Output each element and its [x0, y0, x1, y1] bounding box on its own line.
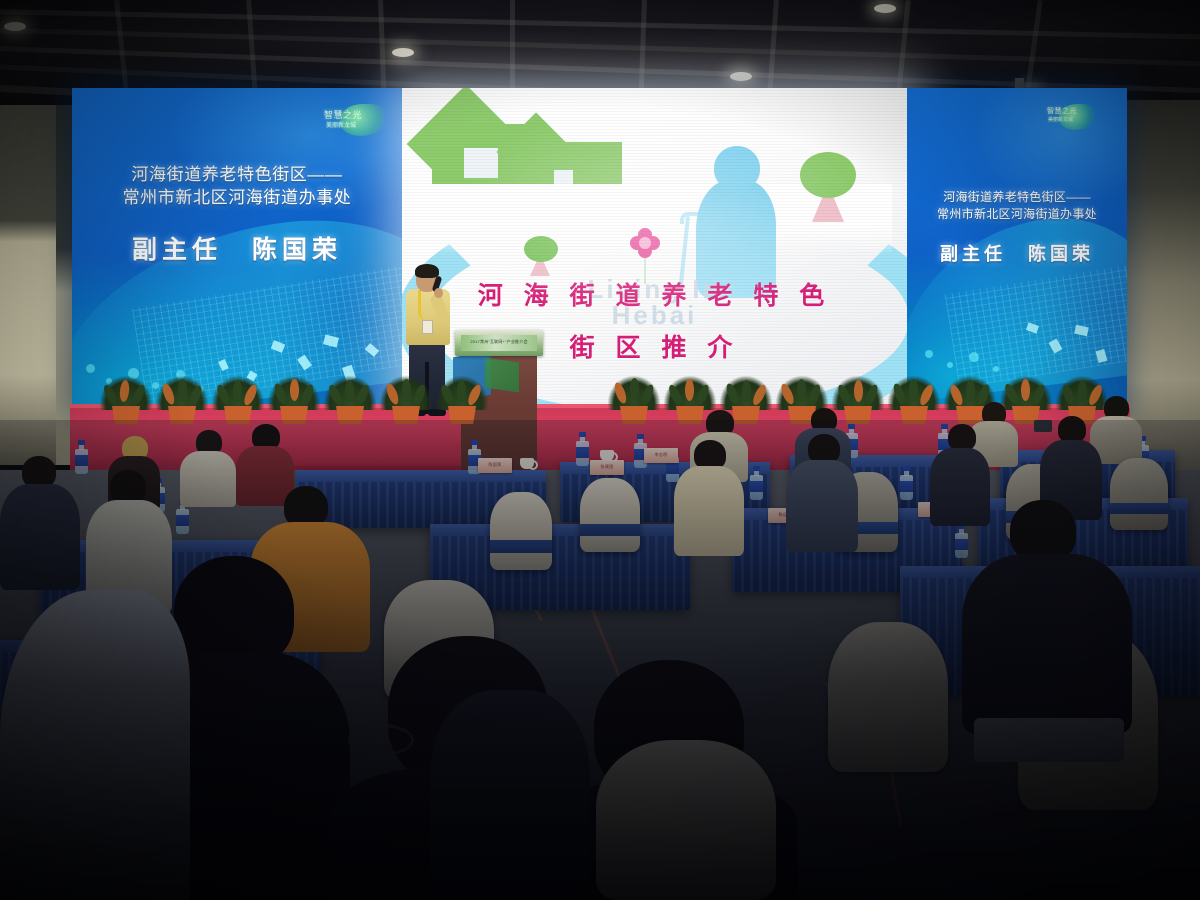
logo-sub-text: 美丽新龙城: [1048, 116, 1073, 123]
eyeglasses-icon: [348, 724, 414, 756]
house-window-icon: [464, 148, 498, 178]
name-card-text: 李志明: [644, 452, 678, 458]
potted-plant: [268, 378, 320, 424]
tea-cup: [600, 450, 614, 461]
silhouette-head: [714, 146, 760, 190]
potted-plant: [888, 378, 940, 424]
podium-banner-text: 2017常州“互联网+”产业推介会: [461, 339, 537, 345]
audience-person-foreground: [430, 690, 590, 900]
audience-person: [962, 500, 1132, 760]
table-name-card: 张建国: [590, 460, 624, 475]
potted-plant: [100, 378, 152, 424]
led-panel-left: 智慧之光 美丽新龙城 河海街道养老特色街区—— 常州市新北区河海街道办事处 副主…: [72, 88, 402, 418]
left-panel-line1: 河海街道养老特色街区——: [72, 160, 402, 185]
audience-person-with-camera: [1040, 414, 1102, 514]
led-panel-right: 智慧之光 美丽新龙城 河海街道养老特色街区—— 常州市新北区河海街道办事处 副主…: [907, 88, 1127, 406]
water-bottle: [576, 432, 589, 466]
potted-plant: [156, 378, 208, 424]
camera-icon: [1034, 420, 1052, 432]
conference-hall-photo: 智慧之光 美丽新龙城 河海街道养老特色街区—— 常州市新北区河海街道办事处 副主…: [0, 0, 1200, 900]
speaker-hair: [415, 264, 439, 278]
left-panel-speaker-name: 副主任 陈国荣: [72, 230, 402, 266]
event-logo-right: 智慧之光 美丽新龙城: [1013, 104, 1097, 138]
tree-small-canopy-icon: [524, 236, 558, 262]
water-bottle: [900, 466, 913, 500]
speaker-badge: [422, 320, 433, 334]
potted-plant: [212, 378, 264, 424]
name-card-text: 张建国: [590, 464, 624, 470]
audience-chair: [580, 478, 640, 552]
logo-main-text: 智慧之光: [1047, 106, 1077, 116]
right-panel-line1: 河海街道养老特色街区——: [907, 188, 1127, 205]
audience-person: [180, 430, 236, 506]
audience-chair: [596, 740, 776, 900]
bubble-particle: [947, 362, 953, 368]
name-card-text: 陈国荣: [478, 462, 512, 468]
audience-person: [0, 456, 80, 586]
right-panel-line2: 常州市新北区河海街道办事处: [907, 205, 1127, 222]
tea-cup: [520, 458, 534, 469]
potted-plant: [436, 378, 488, 424]
potted-plant: [608, 378, 660, 424]
audience-person: [674, 440, 744, 550]
right-panel-speaker-name: 副主任 陈国荣: [907, 240, 1127, 266]
table-name-card: 李志明: [644, 448, 678, 463]
bubble-particle: [925, 350, 933, 358]
led-screen-wall: 智慧之光 美丽新龙城 河海街道养老特色街区—— 常州市新北区河海街道办事处 副主…: [72, 88, 1127, 418]
slide-title-line1: 河 海 街 道 养 老 特 色: [402, 276, 907, 312]
audience-person: [786, 434, 858, 546]
tree-large-canopy-icon: [800, 152, 856, 198]
podium-banner: 2017常州“互联网+”产业推介会: [461, 335, 537, 351]
flower-icon: [630, 228, 660, 258]
person-trousers: [974, 718, 1124, 762]
audience-chair: [490, 492, 552, 570]
left-panel-line2: 常州市新北区河海街道办事处: [72, 183, 402, 208]
audience-person-foreground: [0, 590, 190, 900]
speaker-hand: [434, 288, 443, 298]
event-logo-left: 智慧之光 美丽新龙城: [304, 104, 388, 138]
potted-plant: [380, 378, 432, 424]
table-name-card: 陈国荣: [478, 458, 512, 473]
logo-sub-text: 美丽新龙城: [326, 120, 356, 129]
bubble-particle: [969, 352, 979, 362]
potted-plant: [324, 378, 376, 424]
audience-chair: [828, 622, 948, 772]
water-bottle: [750, 466, 763, 500]
